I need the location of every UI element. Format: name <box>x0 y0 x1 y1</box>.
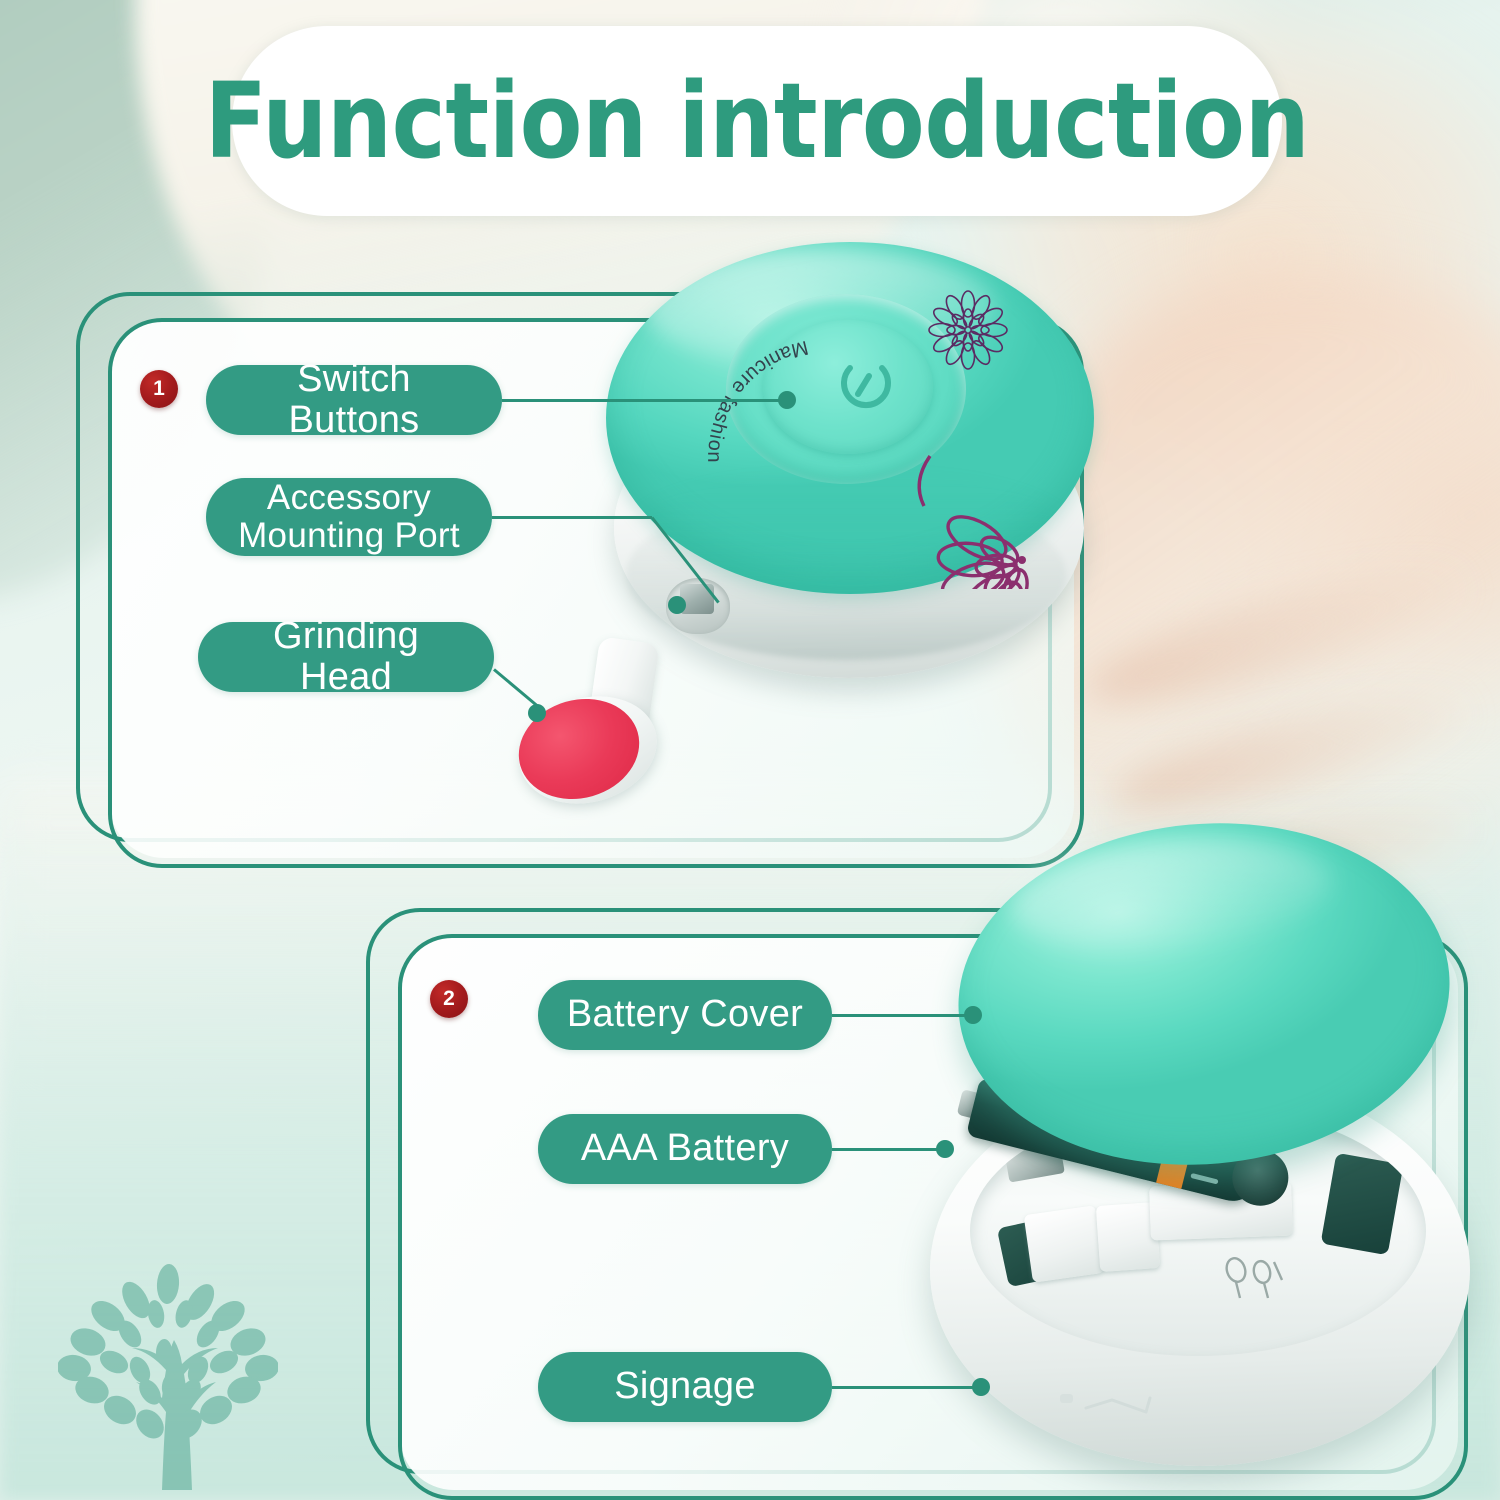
connector-signage <box>832 1386 980 1389</box>
label-accessory-mounting-port[interactable]: Accessory Mounting Port <box>206 478 492 556</box>
label-aaa-battery[interactable]: AAA Battery <box>538 1114 832 1184</box>
step-badge-1: 1 <box>140 370 178 408</box>
connector-dot-accessory-port <box>668 596 686 614</box>
connector-dot-signage <box>972 1378 990 1396</box>
connector-switch-buttons <box>502 399 786 402</box>
connector-dot-grinding-head <box>528 704 546 722</box>
connector-battery-cover <box>832 1014 972 1017</box>
base-signage <box>1060 1388 1180 1422</box>
battery-cover-gloss <box>1004 826 1337 963</box>
accessory-wire-clips <box>1222 1256 1290 1302</box>
label-switch-buttons[interactable]: Switch Buttons <box>206 365 502 435</box>
connector-dot-aaa-battery <box>936 1140 954 1158</box>
infographic-page: Function introduction Manicure fashion <box>0 0 1500 1500</box>
label-grinding-head[interactable]: Grinding Head <box>198 622 494 692</box>
connector-port-horizontal <box>492 516 652 519</box>
device-brand-text: Manicure fashion <box>682 328 842 498</box>
connector-dot-battery-cover <box>964 1006 982 1024</box>
grinding-head <box>498 640 678 815</box>
connector-aaa-battery <box>832 1148 944 1151</box>
step-badge-2: 2 <box>430 980 468 1018</box>
tree-logo <box>58 1258 278 1490</box>
compartment-slot-right <box>1321 1153 1404 1255</box>
page-title: Function introduction <box>295 26 1219 216</box>
label-battery-cover[interactable]: Battery Cover <box>538 980 832 1050</box>
flower-decoration-small <box>914 286 1022 374</box>
compartment-pad-1 <box>1024 1205 1105 1282</box>
label-signage[interactable]: Signage <box>538 1352 832 1422</box>
connector-dot-switch-buttons <box>778 391 796 409</box>
flower-decoration-large <box>844 414 1074 589</box>
power-icon <box>832 348 900 416</box>
